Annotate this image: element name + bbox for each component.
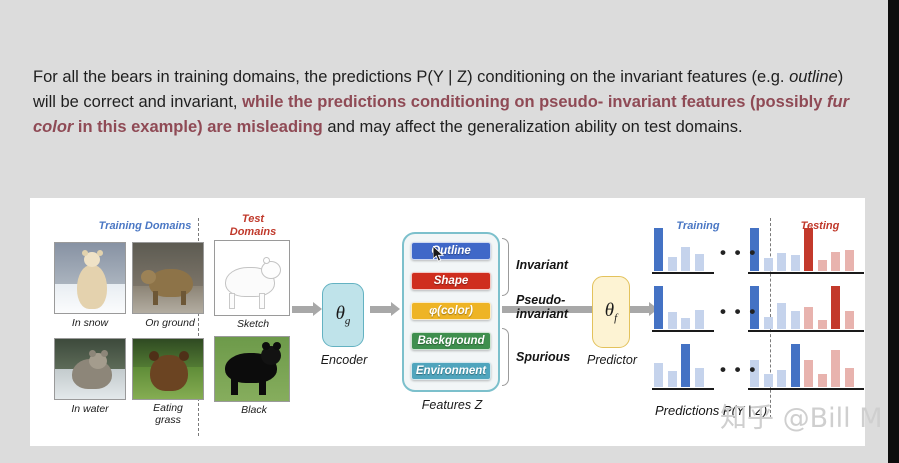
bar <box>668 312 677 329</box>
features-block: Outline Shape φ(color) Background Enviro… <box>402 232 500 392</box>
thumbnail-eating-grass <box>132 338 204 400</box>
bar <box>668 371 677 387</box>
bar <box>845 368 854 387</box>
predictor-symbol: θf <box>605 300 617 324</box>
slide-body-text: For all the bears in training domains, t… <box>33 65 861 140</box>
bar <box>845 250 854 271</box>
feature-phi-color[interactable]: φ(color) <box>411 302 491 320</box>
feature-background[interactable]: Background <box>411 332 491 350</box>
group-label-invariant: Invariant <box>516 258 568 272</box>
thumbnail-in-water <box>54 338 126 400</box>
body-segment-1: For all the bears in training domains, t… <box>33 68 789 86</box>
body-highlight-1: while the predictions conditioning on ps… <box>242 93 827 111</box>
bar <box>791 311 800 329</box>
bar <box>804 360 813 387</box>
slide-canvas: For all the bears in training domains, t… <box>0 0 888 463</box>
figure-panel: Training Domains Test Domains Training T… <box>30 198 865 446</box>
group-label-pseudo-invariant: Pseudo-invariant <box>516 293 568 321</box>
heading-test-domains-line2: Domains <box>208 226 298 238</box>
bar <box>695 310 704 329</box>
bar <box>791 255 800 271</box>
bar <box>845 311 854 329</box>
group-label-spurious: Spurious <box>516 350 570 364</box>
predictor-block: θf <box>592 276 630 348</box>
bar <box>818 374 827 387</box>
bar <box>668 257 677 271</box>
bar <box>654 228 663 271</box>
bar <box>654 286 663 329</box>
bar <box>777 370 786 387</box>
chart-baseline <box>652 388 714 391</box>
chart-baseline <box>748 272 810 275</box>
bar <box>831 286 840 329</box>
pseudo-line-1: Pseudo- <box>516 293 565 307</box>
zhihu-watermark: 知乎 @Bill M <box>720 396 883 435</box>
prediction-histogram-r2-testing <box>802 284 864 332</box>
brace-invariant <box>502 238 509 296</box>
encoder-block: θg <box>322 283 364 347</box>
thumbnail-label-eating-grass: Eatinggrass <box>128 402 208 426</box>
bar <box>695 254 704 271</box>
bar <box>831 252 840 271</box>
ellipsis-row-1: • • • <box>720 244 757 261</box>
chart-baseline <box>652 272 714 275</box>
body-highlight-2: in this example) are misleading <box>73 118 322 136</box>
prediction-histogram-r1-training-a <box>652 226 714 274</box>
feature-outline[interactable]: Outline <box>411 242 491 260</box>
thumbnail-label-on-ground: On ground <box>124 317 216 329</box>
arrow-encoder-to-features <box>370 306 392 313</box>
prediction-histogram-r1-testing <box>802 226 864 274</box>
prediction-histogram-r2-training-a <box>652 284 714 332</box>
bar <box>764 374 773 387</box>
ellipsis-row-2: • • • <box>720 303 757 320</box>
features-caption: Features Z <box>398 398 506 412</box>
chart-baseline <box>748 388 810 391</box>
predictor-caption: Predictor <box>578 353 646 367</box>
body-italic-outline: outline <box>789 68 838 86</box>
arrow-images-to-encoder <box>292 306 314 313</box>
prediction-histogram-r3-training-a <box>652 342 714 390</box>
pseudo-line-2: invariant <box>516 307 568 321</box>
bar <box>818 320 827 329</box>
thumbnail-label-in-snow: In snow <box>44 317 136 329</box>
bar <box>831 350 840 387</box>
label-line-2: grass <box>155 414 181 426</box>
bar <box>681 318 690 329</box>
prediction-histogram-r3-testing <box>802 342 864 390</box>
thumbnail-in-snow <box>54 242 126 314</box>
bar <box>681 247 690 271</box>
thumbnail-label-black: Black <box>212 404 296 416</box>
thumbnail-on-ground <box>132 242 204 314</box>
bar <box>777 253 786 271</box>
bar <box>695 368 704 387</box>
heading-test-domains-line1: Test <box>208 213 298 225</box>
thumbnail-label-in-water: In water <box>44 403 136 415</box>
bar <box>777 303 786 329</box>
arrow-predictor-to-charts <box>630 306 650 313</box>
chart-baseline <box>802 272 864 275</box>
brace-spurious <box>502 328 509 386</box>
bar <box>818 260 827 271</box>
encoder-symbol: θg <box>336 303 351 327</box>
thumbnail-label-sketch: Sketch <box>210 318 296 330</box>
label-line-1: Eating <box>153 402 183 414</box>
thumbnail-black <box>214 336 290 402</box>
body-segment-3: and may affect the generalization abilit… <box>323 118 743 136</box>
chart-baseline <box>652 330 714 333</box>
feature-shape[interactable]: Shape <box>411 272 491 290</box>
bar <box>764 317 773 329</box>
mouse-cursor <box>433 246 444 262</box>
bar <box>681 344 690 387</box>
bar <box>804 228 813 271</box>
chart-baseline <box>802 388 864 391</box>
feature-environment[interactable]: Environment <box>411 362 491 380</box>
encoder-caption: Encoder <box>312 353 376 367</box>
bar <box>764 258 773 271</box>
thumbnail-sketch <box>214 240 290 316</box>
ellipsis-row-3: • • • <box>720 361 757 378</box>
chart-baseline <box>802 330 864 333</box>
chart-baseline <box>748 330 810 333</box>
bar <box>654 363 663 387</box>
bar <box>791 344 800 387</box>
right-dark-edge <box>888 0 899 463</box>
bar <box>804 307 813 329</box>
